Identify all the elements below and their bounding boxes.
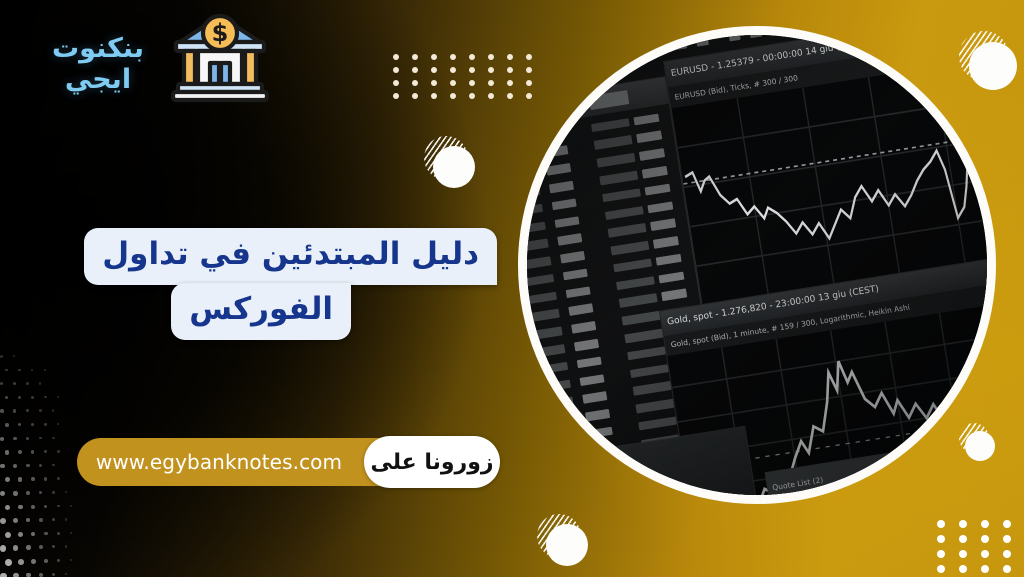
photo-table-cell bbox=[555, 216, 580, 228]
photo-table-cell bbox=[637, 131, 662, 143]
grid-dot bbox=[488, 54, 494, 60]
photo-table-cell bbox=[527, 204, 543, 217]
grid-dot bbox=[981, 520, 989, 528]
grid-dot bbox=[1003, 565, 1011, 573]
grid-dot bbox=[981, 535, 989, 543]
grid-dot bbox=[450, 93, 456, 99]
photo-table-cell bbox=[529, 309, 560, 322]
photo-table-cell bbox=[527, 222, 546, 235]
photo-table-cell bbox=[547, 163, 572, 175]
photo-table-cell bbox=[566, 286, 591, 298]
photo-table-cell bbox=[564, 269, 589, 281]
photo-table-cell bbox=[527, 257, 551, 270]
striped-circle-decoration-mid-left bbox=[424, 136, 480, 192]
photo-table-cell bbox=[586, 409, 611, 421]
photo-table-cell bbox=[552, 199, 577, 211]
photo-table-cell bbox=[527, 422, 534, 434]
photo-table-cell bbox=[592, 118, 631, 132]
svg-text:$: $ bbox=[212, 19, 229, 47]
grid-dot bbox=[469, 80, 475, 86]
grid-dot bbox=[393, 80, 399, 86]
grid-dot bbox=[488, 67, 494, 73]
grid-dot bbox=[450, 67, 456, 73]
grid-dot bbox=[469, 54, 475, 60]
photo-table-cell bbox=[538, 362, 569, 375]
photo-table-cell bbox=[639, 417, 678, 431]
grid-dot bbox=[959, 535, 967, 543]
grid-dot bbox=[469, 93, 475, 99]
photo-table-cell bbox=[527, 169, 538, 182]
grid-dot bbox=[450, 54, 456, 60]
striped-circle-decoration-bottom bbox=[537, 514, 593, 570]
photo-table-cell bbox=[561, 251, 586, 263]
photo-table-cell bbox=[527, 187, 540, 200]
grid-dot bbox=[450, 80, 456, 86]
photo-table-cell bbox=[535, 345, 566, 358]
trading-screens-photo: EURUSD - 1.25379 - 00:00:00 14 giu (EEST… bbox=[527, 35, 987, 495]
photo-table-cell bbox=[617, 276, 656, 290]
grid-dot bbox=[488, 93, 494, 99]
grid-dot bbox=[431, 54, 437, 60]
bank-building-dollar-icon: $ bbox=[168, 6, 272, 106]
grid-dot bbox=[393, 67, 399, 73]
photo-table-cell bbox=[634, 114, 659, 126]
photo-table-cell bbox=[651, 219, 676, 231]
photo-table-cell bbox=[577, 357, 602, 369]
photo-table-cell bbox=[654, 237, 679, 249]
photo-table-cell bbox=[546, 415, 577, 428]
photo-table-cell bbox=[622, 311, 661, 325]
website-url[interactable]: www.egybanknotes.com bbox=[77, 438, 361, 486]
photo-table-cell bbox=[580, 374, 605, 386]
grid-dot bbox=[412, 80, 418, 86]
grid-dot bbox=[412, 54, 418, 60]
promo-banner: بنكنوت ايجي $ bbox=[0, 0, 1024, 577]
photo-table-cell bbox=[544, 146, 569, 158]
page-title: دليل المبتدئين في تداول الفوركس bbox=[57, 228, 497, 340]
photo-table-cell bbox=[606, 206, 645, 220]
grid-dot bbox=[412, 93, 418, 99]
photo-table-cell bbox=[575, 339, 600, 351]
grid-dot bbox=[431, 67, 437, 73]
photo-table-cell bbox=[643, 166, 668, 178]
grid-dot bbox=[959, 520, 967, 528]
photo-table-cell bbox=[620, 294, 659, 308]
striped-circle-decoration-photo-edge bbox=[959, 423, 999, 463]
photo-table-cell bbox=[659, 272, 684, 284]
photo-table-cell bbox=[597, 153, 636, 167]
title-line-1: دليل المبتدئين في تداول bbox=[84, 228, 497, 285]
visit-us-label: زورونا على bbox=[364, 436, 500, 488]
photo-table-cell bbox=[527, 151, 535, 164]
photo-table-cell bbox=[572, 322, 597, 334]
grid-dot bbox=[431, 93, 437, 99]
photo-table-cell bbox=[656, 254, 681, 266]
brand-name: بنكنوت ايجي bbox=[18, 33, 178, 95]
grid-dot bbox=[507, 67, 513, 73]
photo-table-cell bbox=[558, 234, 583, 246]
photo-table-cell bbox=[527, 292, 557, 305]
photo-table-cell bbox=[608, 224, 647, 238]
grid-dot bbox=[507, 54, 513, 60]
photo-table-cell bbox=[527, 439, 537, 451]
title-line-2: الفوركس bbox=[171, 283, 351, 340]
photo-table-cell bbox=[648, 201, 673, 213]
grid-dot bbox=[981, 550, 989, 558]
photo-table-cell bbox=[603, 189, 642, 203]
grid-dot bbox=[937, 565, 945, 573]
grid-dot bbox=[469, 67, 475, 73]
photo-table-cell bbox=[631, 364, 670, 378]
photo-table-cell bbox=[527, 134, 532, 147]
photo-table-cell bbox=[549, 432, 580, 445]
photo-table-cell bbox=[550, 181, 575, 193]
photo-table-cell bbox=[540, 380, 571, 393]
photo-table-cell bbox=[543, 397, 574, 410]
grid-dot bbox=[393, 54, 399, 60]
grid-dot bbox=[1003, 520, 1011, 528]
dot-grid-top bbox=[393, 54, 545, 106]
dot-grid-bottom-right bbox=[937, 520, 1024, 577]
grid-dot bbox=[507, 80, 513, 86]
photo-table-cell bbox=[569, 304, 594, 316]
photo-table-cell bbox=[628, 347, 667, 361]
photo-table-cell bbox=[527, 239, 549, 252]
grid-dot bbox=[1003, 550, 1011, 558]
photo-table-cell bbox=[611, 241, 650, 255]
photo-table-cell bbox=[633, 382, 672, 396]
grid-dot bbox=[937, 550, 945, 558]
photo-table-cell bbox=[527, 386, 528, 398]
grid-dot bbox=[959, 550, 967, 558]
photo-table-cell bbox=[527, 274, 554, 287]
trading-photo-circle: EURUSD - 1.25379 - 00:00:00 14 giu (EEST… bbox=[518, 26, 996, 504]
photo-table-cell bbox=[589, 427, 614, 439]
grid-dot bbox=[507, 93, 513, 99]
photo-table-cell bbox=[532, 327, 563, 340]
grid-dot bbox=[431, 80, 437, 86]
photo-table-cell bbox=[645, 184, 670, 196]
photo-table-cell bbox=[636, 399, 675, 413]
photo-table-cell bbox=[583, 392, 608, 404]
grid-dot bbox=[412, 67, 418, 73]
grid-dot bbox=[981, 565, 989, 573]
grid-dot bbox=[937, 535, 945, 543]
photo-table-cell bbox=[640, 149, 665, 161]
grid-dot bbox=[1003, 535, 1011, 543]
photo-table-cell bbox=[541, 128, 566, 140]
photo-table-cell bbox=[614, 259, 653, 273]
footer-cta[interactable]: www.egybanknotes.com زورونا على bbox=[77, 438, 499, 486]
photo-table-cell bbox=[595, 136, 634, 150]
grid-dot bbox=[393, 93, 399, 99]
grid-dot bbox=[488, 80, 494, 86]
photo-table-cell bbox=[662, 289, 687, 301]
grid-dot bbox=[959, 565, 967, 573]
photo-table-cell bbox=[625, 329, 664, 343]
photo-table-cell bbox=[527, 404, 531, 416]
photo-table-cell bbox=[600, 171, 639, 185]
grid-dot bbox=[937, 520, 945, 528]
